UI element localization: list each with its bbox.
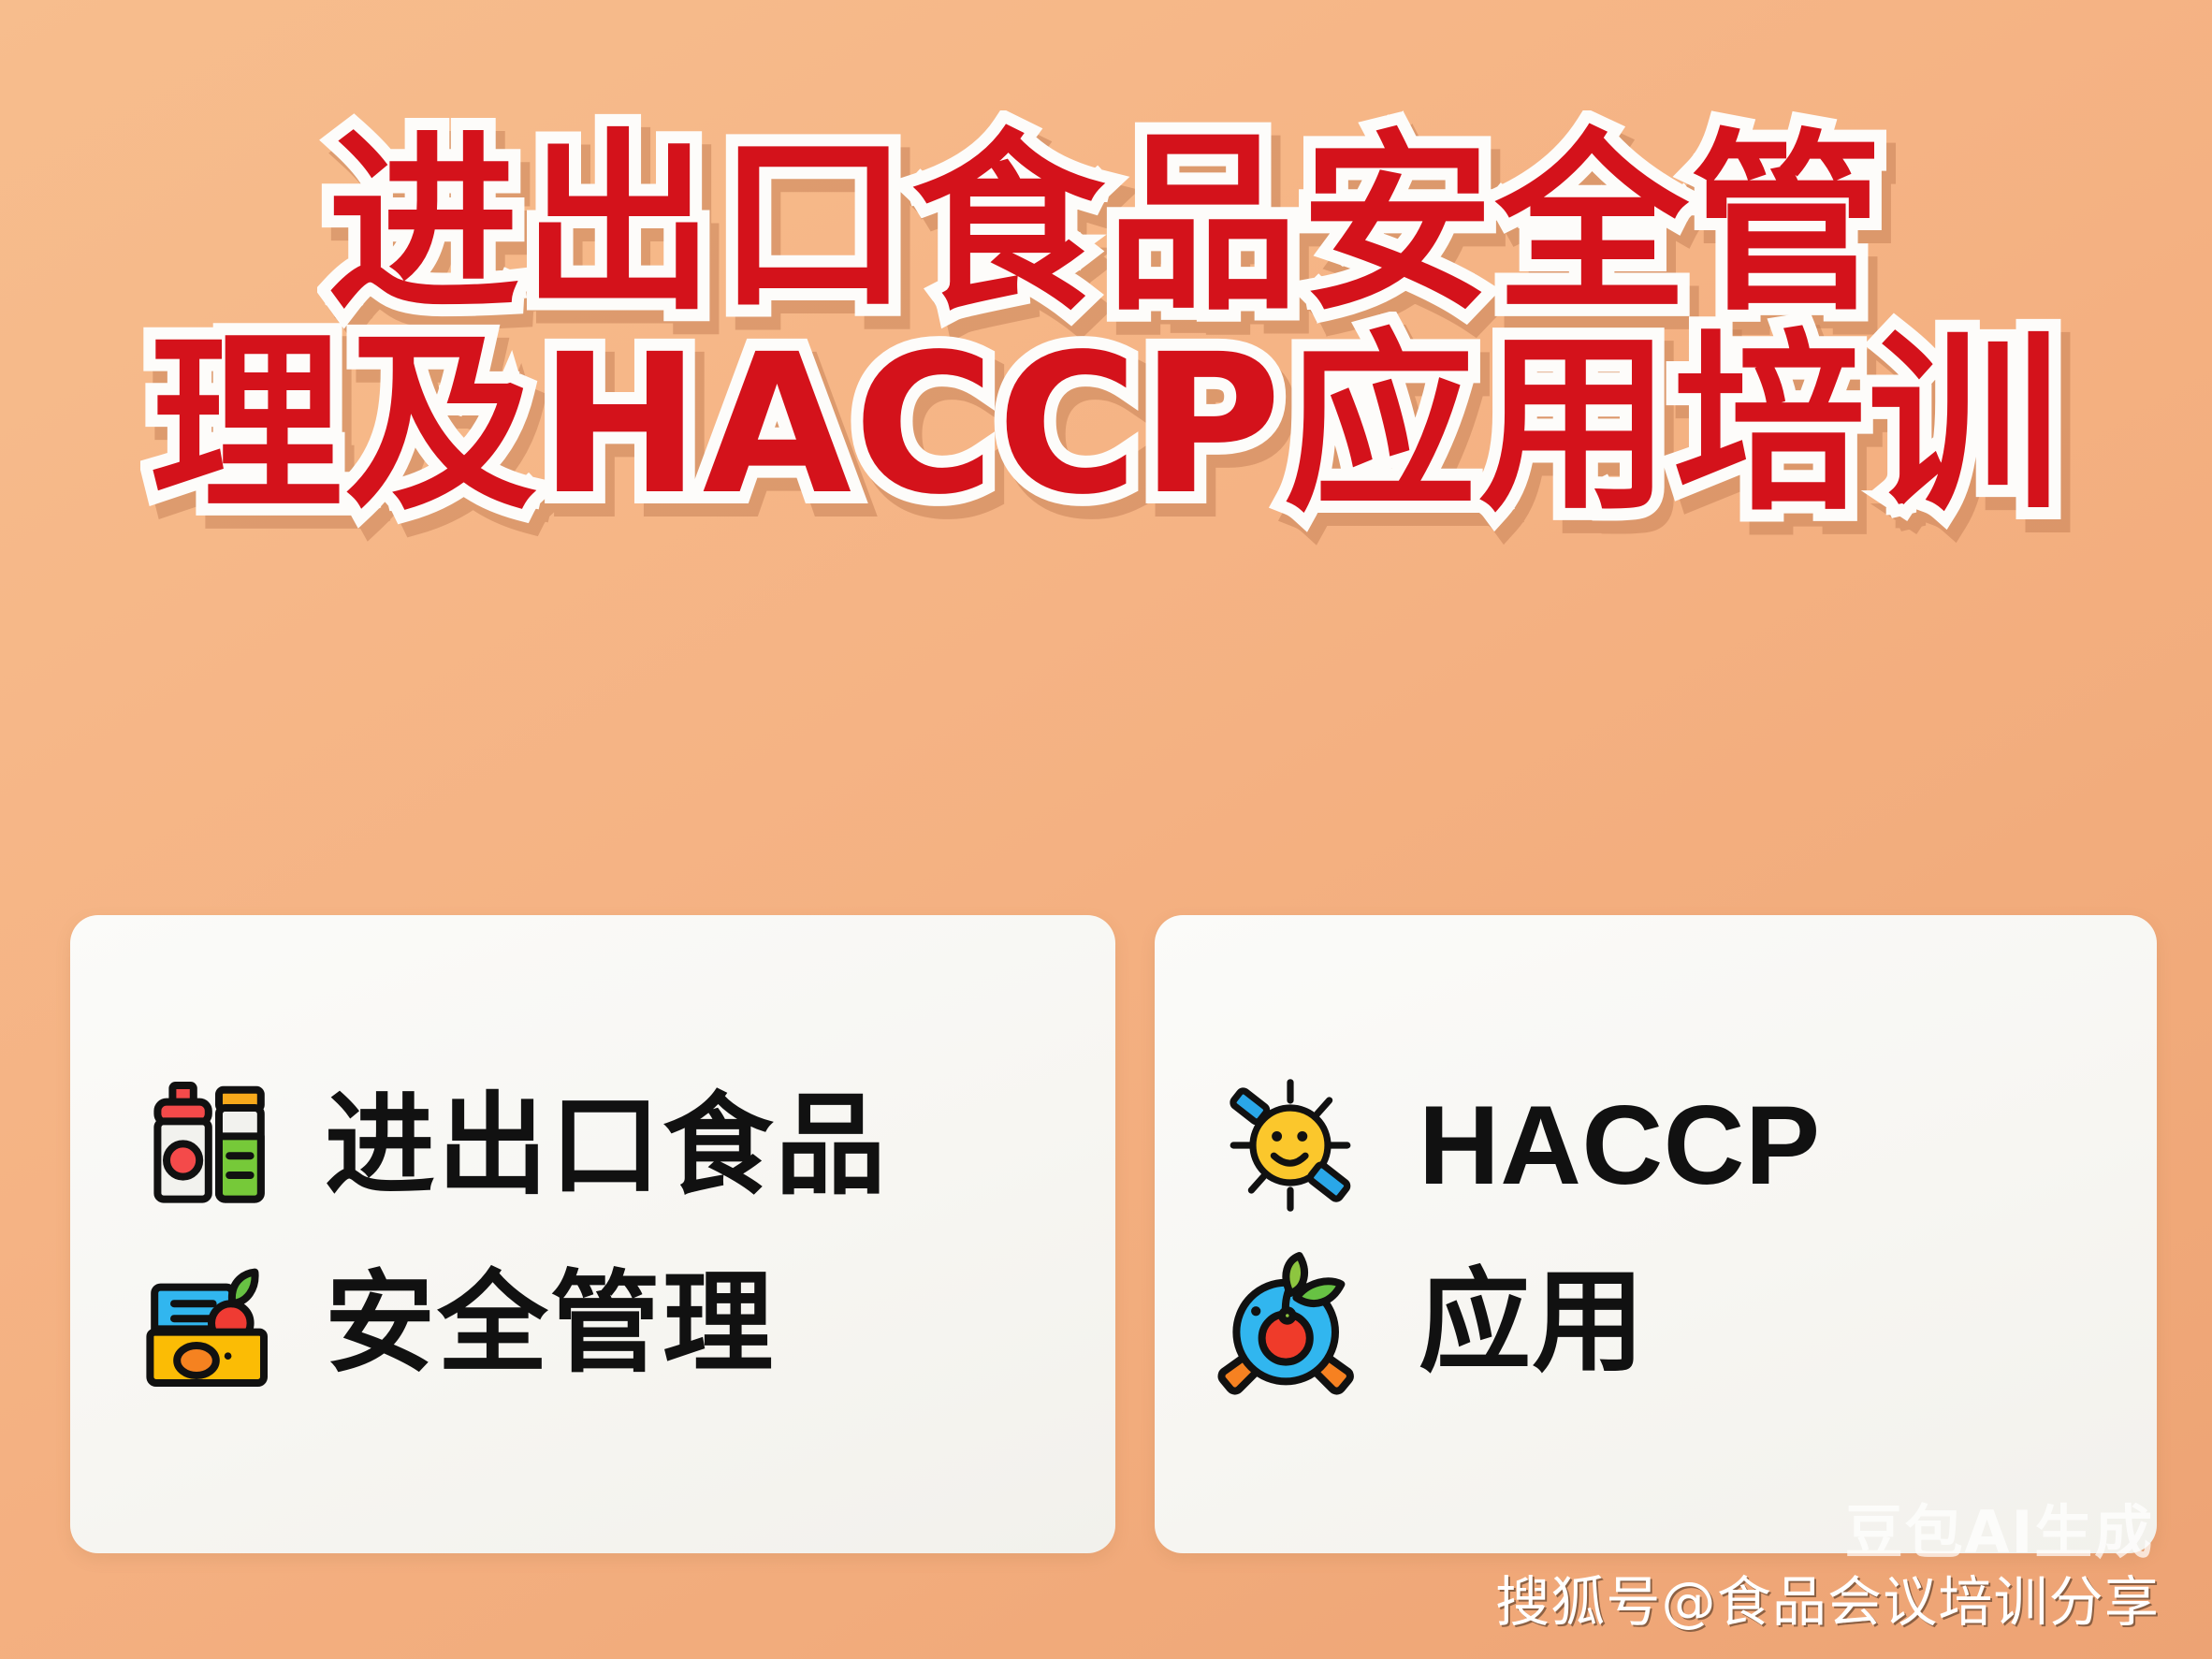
card-label-safety-management: 安全管理 <box>325 1268 775 1378</box>
card-label-import-export-food: 进出口食品 <box>325 1090 888 1201</box>
card-row-application: 应用 <box>1211 1234 2157 1412</box>
account-watermark: 搜狐号@食品会议培训分享 <box>1495 1558 2160 1637</box>
poster-title: 进出口食品安全管 理及HACCP应用培训 <box>0 131 2212 520</box>
title-line-1: 进出口食品安全管 <box>0 131 2212 320</box>
bottle-and-test-tube-icon <box>132 1066 291 1225</box>
title-line-2: 理及HACCP应用培训 <box>0 331 2212 520</box>
card-row-safety-management: 安全管理 <box>132 1234 1115 1412</box>
smiling-sun-magnifier-icon <box>1211 1066 1370 1225</box>
card-label-application: 应用 <box>1419 1267 1645 1379</box>
card-row-haccp: HACCP <box>1211 1056 2157 1234</box>
card-import-export-food-safety[interactable]: 进出口食品 <box>70 915 1115 1553</box>
card-row-import-export-food: 进出口食品 <box>132 1056 1115 1234</box>
lunchbox-with-fruit-icon <box>132 1244 291 1403</box>
fruit-target-icon <box>1211 1244 1370 1403</box>
feature-cards: 进出口食品 <box>70 915 2157 1553</box>
poster-canvas: 进出口食品安全管 理及HACCP应用培训 <box>0 0 2212 1659</box>
card-label-haccp: HACCP <box>1419 1089 1821 1201</box>
card-haccp-application[interactable]: HACCP <box>1155 915 2157 1553</box>
